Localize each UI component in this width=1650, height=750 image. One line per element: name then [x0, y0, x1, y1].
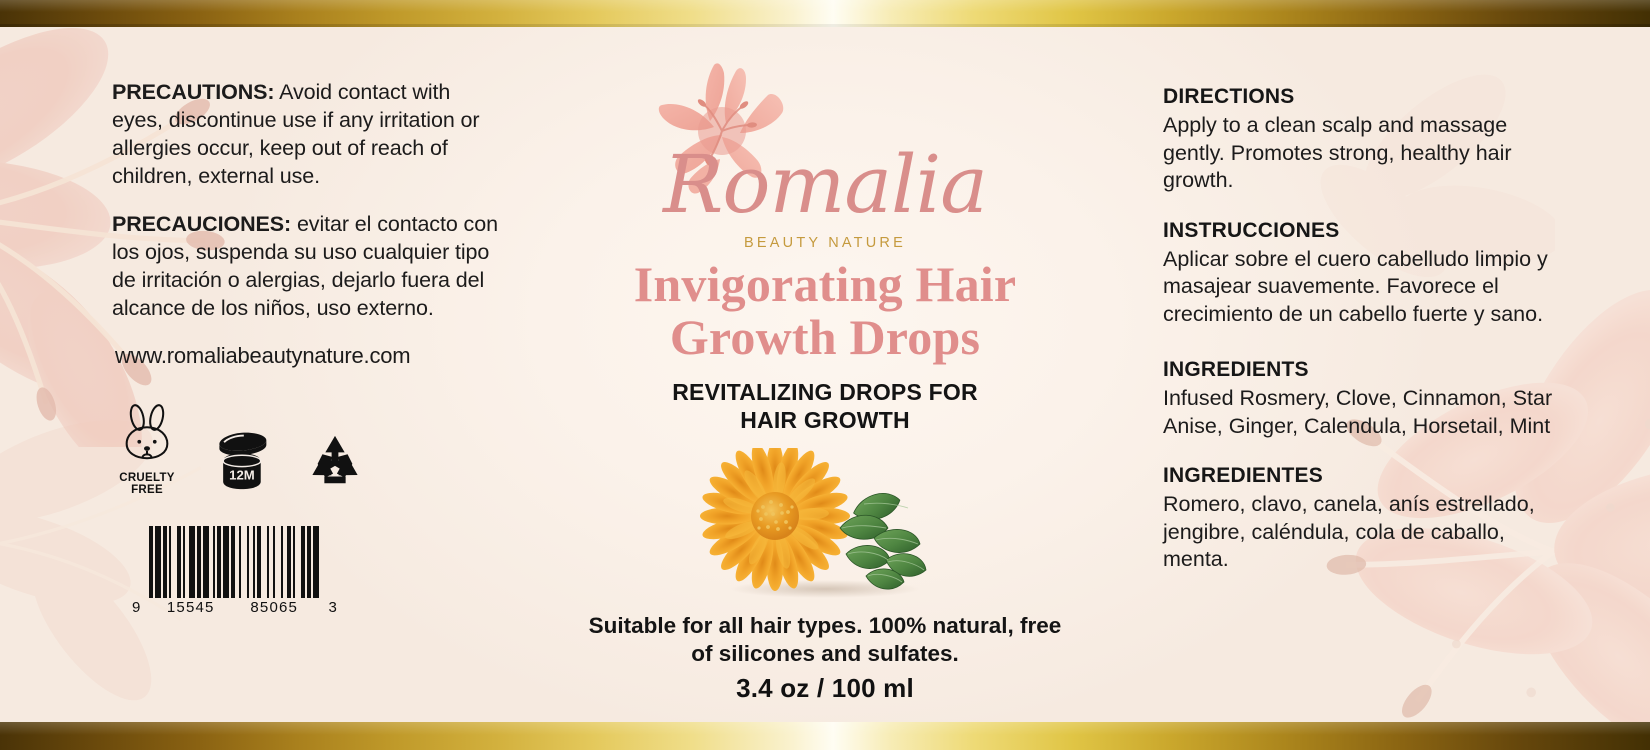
- barcode-group-right: 85065: [233, 599, 317, 616]
- cruelty-free-line2: FREE: [119, 484, 175, 496]
- period-after-opening-icon: 12M: [208, 429, 274, 496]
- pao-duration-text: 12M: [229, 467, 255, 482]
- brand-name: Romalia: [615, 145, 1035, 225]
- instrucciones-body: Aplicar sobre el cuero cabelludo limpio …: [1163, 246, 1563, 329]
- left-column: PRECAUTIONS: Avoid contact with eyes, di…: [112, 79, 502, 616]
- ingredientes-heading: INGREDIENTES: [1163, 464, 1563, 488]
- precauciones-label: PRECAUCIONES:: [112, 212, 291, 236]
- precauciones-paragraph: PRECAUCIONES: evitar el contacto con los…: [112, 211, 502, 323]
- product-title-line1: Invigorating Hair: [634, 256, 1017, 312]
- precautions-label: PRECAUTIONS:: [112, 80, 274, 104]
- top-gold-border: [0, 0, 1650, 27]
- cruelty-free-icon: [116, 403, 178, 470]
- right-column: DIRECTIONS Apply to a clean scalp and ma…: [1163, 85, 1563, 598]
- barcode-check-digit: 3: [316, 599, 338, 616]
- precautions-paragraph: PRECAUTIONS: Avoid contact with eyes, di…: [112, 79, 502, 191]
- directions-heading: DIRECTIONS: [1163, 85, 1563, 109]
- product-claim: Suitable for all hair types. 100% natura…: [575, 612, 1075, 667]
- gold-sheen-bottom: [0, 722, 1650, 735]
- certification-icon-row: CRUELTY FREE: [116, 403, 502, 496]
- gold-sheen: [0, 0, 1650, 12]
- product-title-line2: Growth Drops: [670, 309, 980, 365]
- recycle-badge: [304, 433, 366, 496]
- instrucciones-heading: INSTRUCCIONES: [1163, 219, 1563, 243]
- barcode-group-left: 15545: [149, 599, 233, 616]
- cruelty-free-badge: CRUELTY FREE: [116, 403, 178, 496]
- product-subtitle-line2: HAIR GROWTH: [740, 407, 910, 433]
- label-canvas: PRECAUTIONS: Avoid contact with eyes, di…: [0, 27, 1650, 722]
- calendula-and-mint-icon: [680, 448, 970, 598]
- barcode-bars: [149, 526, 321, 598]
- ingredients-heading: INGREDIENTS: [1163, 358, 1563, 382]
- product-subtitle-line1: REVITALIZING DROPS FOR: [672, 379, 978, 405]
- product-label: PRECAUTIONS: Avoid contact with eyes, di…: [0, 0, 1650, 750]
- website-url[interactable]: www.romaliabeautynature.com: [115, 343, 502, 369]
- cruelty-free-label: CRUELTY FREE: [119, 472, 175, 496]
- directions-body: Apply to a clean scalp and massage gentl…: [1163, 112, 1563, 195]
- product-volume: 3.4 oz / 100 ml: [575, 673, 1075, 704]
- recycle-icon: [304, 433, 366, 496]
- bottom-gold-border: [0, 722, 1650, 750]
- period-after-opening-badge: 12M: [208, 429, 274, 496]
- brand-tagline: BEAUTY NATURE: [615, 235, 1035, 251]
- product-subtitle: REVITALIZING DROPS FOR HAIR GROWTH: [575, 378, 1075, 434]
- brand-logo: Romalia BEAUTY NATURE: [615, 57, 1035, 252]
- ingredientes-body: Romero, clavo, canela, anís estrellado, …: [1163, 491, 1563, 574]
- center-column: Romalia BEAUTY NATURE Invigorating Hair …: [575, 57, 1075, 704]
- barcode-lead-digit: 9: [132, 599, 149, 616]
- gold-edge: [0, 24, 1650, 27]
- barcode-digits: 9 15545 85065 3: [132, 599, 338, 616]
- page-title: Invigorating Hair Growth Drops: [575, 258, 1075, 364]
- barcode: 9 15545 85065 3: [132, 526, 332, 616]
- ingredients-body: Infused Rosmery, Clove, Cinnamon, Star A…: [1163, 385, 1563, 440]
- cruelty-free-line1: CRUELTY: [119, 472, 175, 484]
